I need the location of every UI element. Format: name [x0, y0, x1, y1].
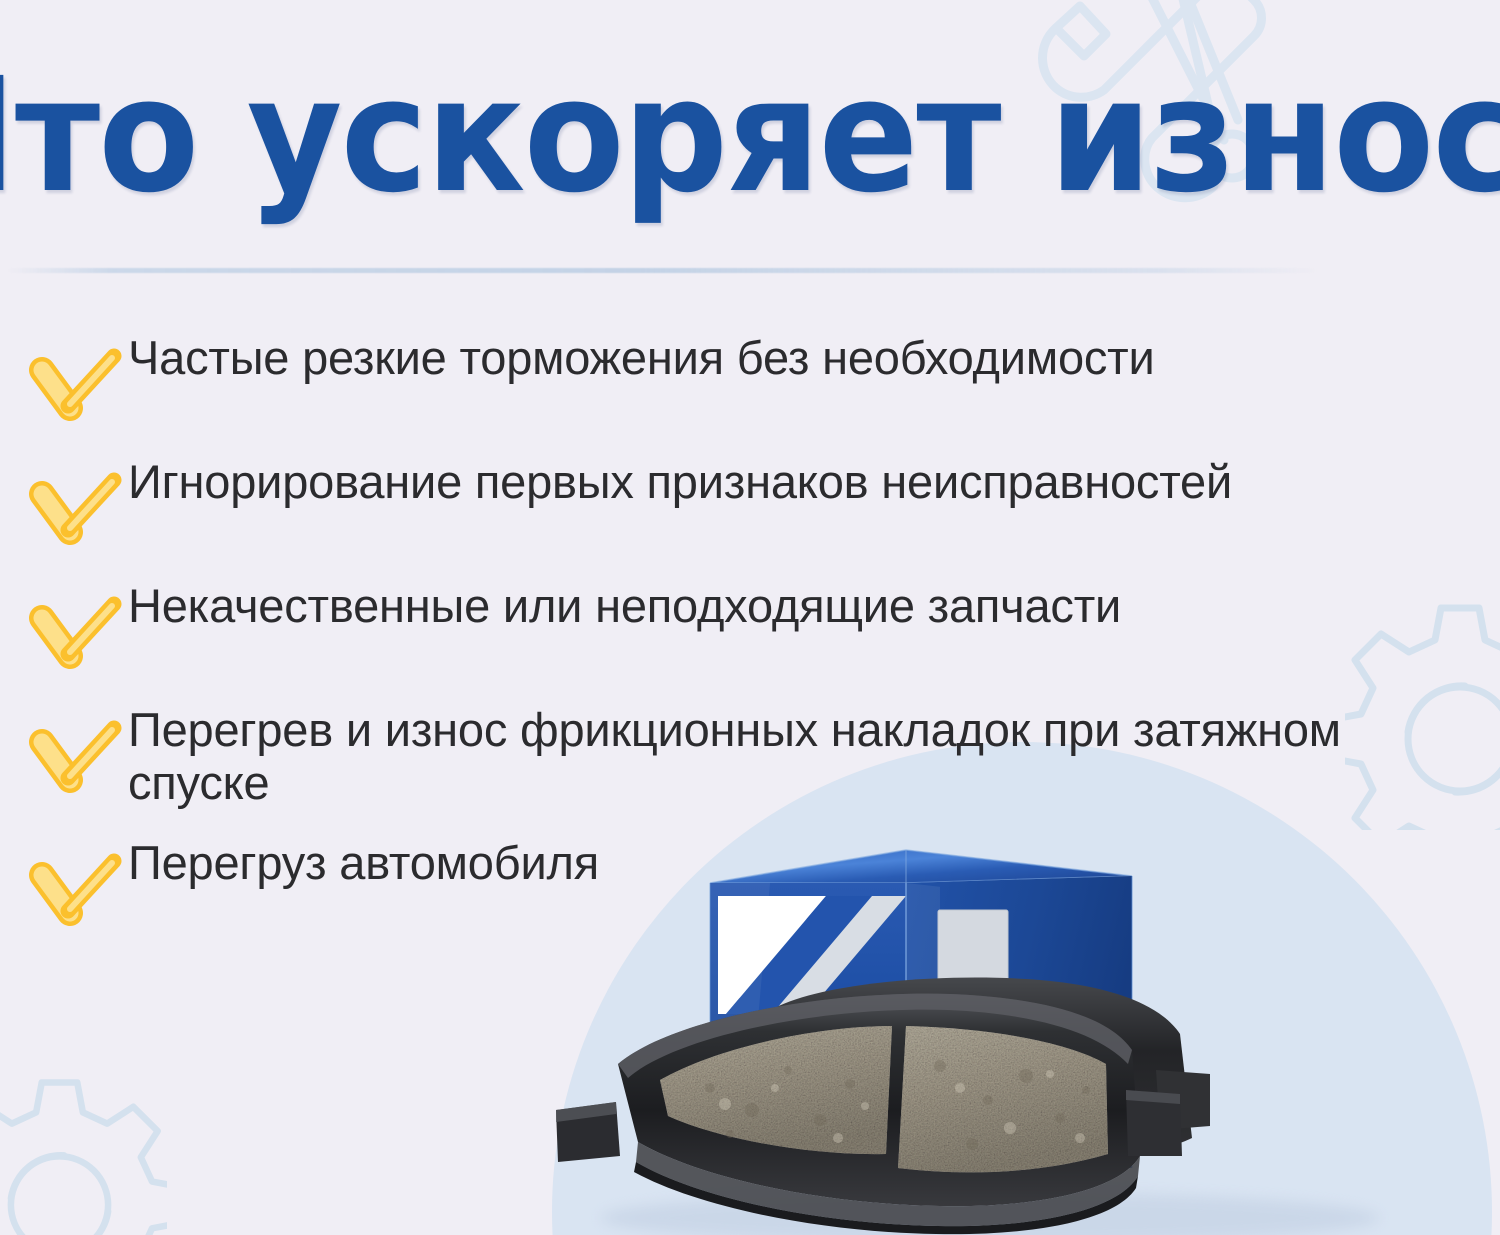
list-item: Частые резкие торможения без необходимос… — [22, 330, 1442, 428]
list-item-label: Частые резкие торможения без необходимос… — [128, 330, 1155, 385]
check-icon — [22, 584, 128, 676]
brake-pads-and-box-photo — [520, 838, 1500, 1235]
brake-pad-front — [556, 994, 1182, 1235]
list-item: Игнорирование первых признаков неисправн… — [22, 454, 1442, 552]
gear-icon — [0, 1075, 167, 1235]
list-item-label: Перегрев и износ фрикционных накладок пр… — [128, 702, 1438, 809]
check-icon — [22, 841, 128, 933]
list-item: Некачественные или неподходящие запчасти — [22, 578, 1442, 676]
poster-canvas: Что ускоряет износ? Частые резкие тормож… — [0, 0, 1500, 1235]
check-icon — [22, 708, 128, 800]
list-item: Перегрев и износ фрикционных накладок пр… — [22, 702, 1442, 809]
list-item-label: Некачественные или неподходящие запчасти — [128, 578, 1121, 633]
check-icon — [22, 460, 128, 552]
page-title: Что ускоряет износ? — [0, 57, 1500, 215]
title-area: Что ускоряет износ? — [0, 0, 1500, 272]
brake-pad-pair — [556, 978, 1210, 1235]
check-icon — [22, 336, 128, 428]
list-item-label: Игнорирование первых признаков неисправн… — [128, 454, 1232, 509]
